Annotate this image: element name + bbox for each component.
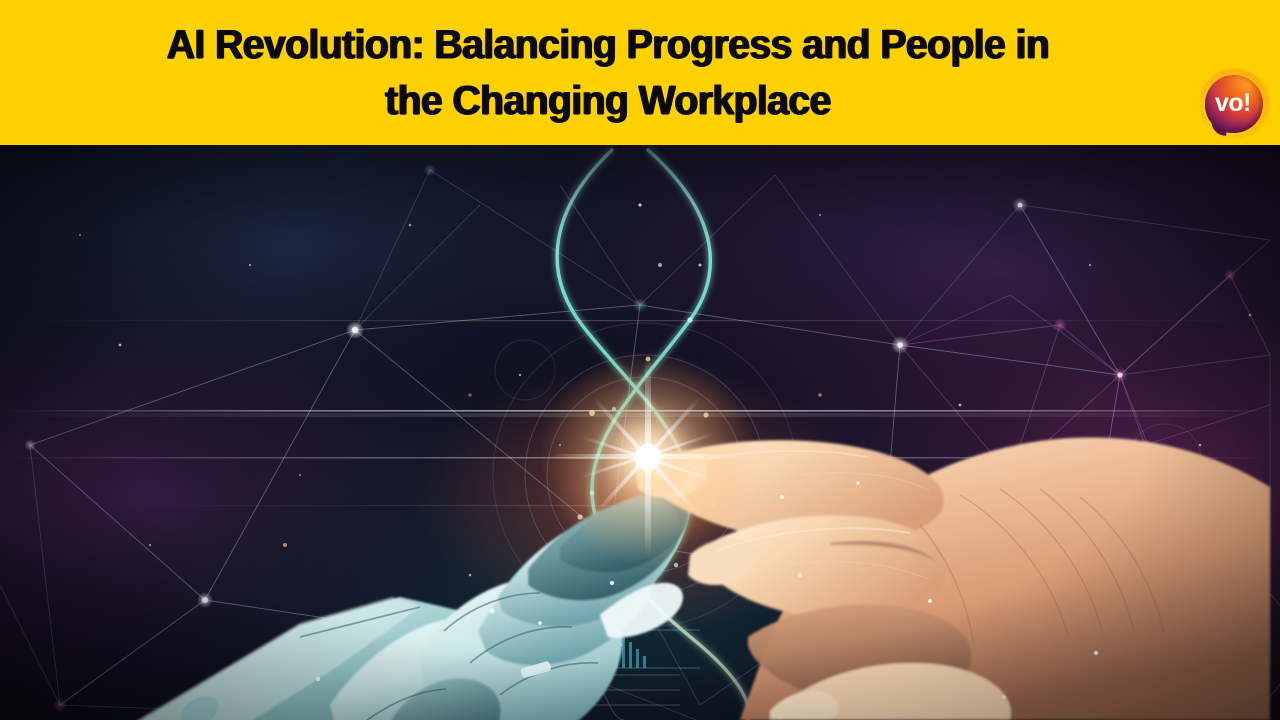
page-title: AI Revolution: Balancing Progress and Pe… (45, 16, 1172, 128)
title-banner: AI Revolution: Balancing Progress and Pe… (0, 0, 1280, 145)
vignette (0, 145, 1280, 720)
logo-wordmark: vo! (1202, 74, 1264, 132)
poster-canvas: AI Revolution: Balancing Progress and Pe… (0, 0, 1280, 720)
vo-logo[interactable]: vo! (1203, 73, 1265, 135)
hero-image (0, 145, 1280, 720)
